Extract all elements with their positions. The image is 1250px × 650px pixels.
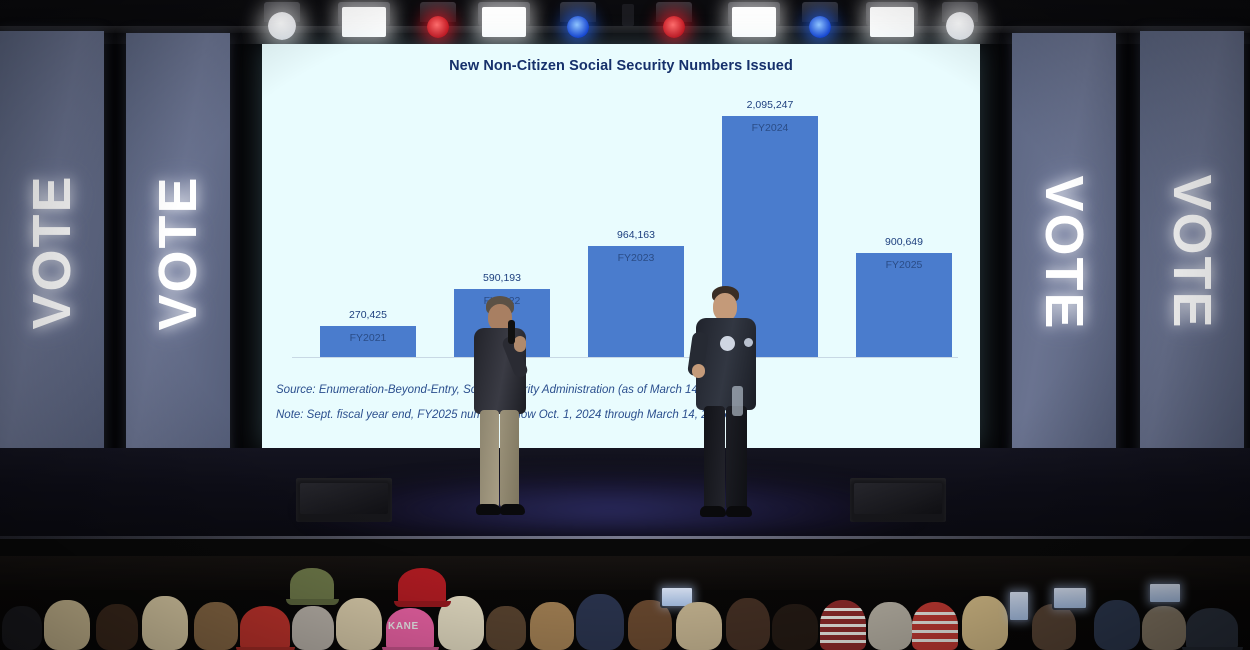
stage-monitor-right <box>850 478 946 522</box>
vote-banner-right-2: VOTE <box>1140 31 1244 472</box>
jacket-emblem <box>720 336 735 351</box>
jacket-shoulder-patch <box>744 338 753 347</box>
speaker-left-hand <box>514 336 526 352</box>
speaker-right-head <box>713 293 737 321</box>
audience-head <box>962 596 1008 650</box>
stage-light-spot-white <box>940 2 980 44</box>
audience-head <box>486 606 526 650</box>
audience-head <box>726 598 770 650</box>
slide-title: New Non-Citizen Social Security Numbers … <box>262 58 980 74</box>
category-label-fy2021: FY2021 <box>350 332 387 344</box>
vote-banner-left-2: VOTE <box>126 33 230 472</box>
stage-light-panel <box>478 2 530 42</box>
audience-head <box>194 602 238 650</box>
audience-backdrop <box>0 556 1250 590</box>
audience-head <box>336 598 382 650</box>
audience-cap-dark <box>1186 608 1238 650</box>
truss-hook <box>622 4 634 26</box>
audience-head <box>44 600 90 650</box>
audience: KANE <box>0 556 1250 650</box>
vote-banner-text: VOTE <box>151 175 205 330</box>
audience-head <box>96 604 138 650</box>
truss-beam <box>0 26 1250 33</box>
audience-head <box>576 594 624 650</box>
audience-head <box>1032 604 1076 650</box>
stage-light-spot-red <box>654 2 694 44</box>
stage-light-spot-red <box>418 2 458 44</box>
audience-head <box>868 602 912 650</box>
presentation-slide: New Non-Citizen Social Security Numbers … <box>262 44 980 448</box>
speaker-right-leg-b <box>726 406 747 510</box>
chart-baseline <box>292 357 958 358</box>
audience-head <box>292 606 334 650</box>
speaker-right-leg-a <box>704 406 725 510</box>
water-bottle[interactable] <box>732 386 743 416</box>
audience-striped-beanie <box>912 602 958 650</box>
rally-scene: VOTE VOTE VOTE VOTE New Non-Citizen Soci… <box>0 0 1250 650</box>
stage-light-panel <box>338 2 390 42</box>
speaker-left <box>456 296 552 532</box>
bar-value-fy2024: 2,095,247 <box>747 99 794 111</box>
audience-head <box>1094 600 1140 650</box>
audience-striped-beanie <box>820 600 866 650</box>
audience-cap-maga <box>398 568 446 604</box>
stage-monitor-left <box>296 478 392 522</box>
vote-banner-left-1: VOTE <box>0 31 104 472</box>
audience-cap-olive <box>290 568 334 602</box>
bar-group-fy2023: 964,163 FY2023 <box>588 246 684 357</box>
jersey-name-text: KANE <box>388 621 419 632</box>
speaker-left-shoe-b <box>500 504 525 515</box>
speaker-right-shoe-b <box>726 506 752 517</box>
speaker-left-shoe-a <box>476 504 501 515</box>
audience-phone[interactable] <box>1148 582 1182 604</box>
bar-value-fy2021: 270,425 <box>349 309 387 321</box>
audience-phone[interactable] <box>1008 590 1030 622</box>
slide-footnotes: Source: Enumeration-Beyond-Entry, Social… <box>276 384 970 434</box>
audience-head <box>530 602 574 650</box>
speaker-left-leg-a <box>480 410 499 508</box>
speaker-right-shoe-a <box>700 506 726 517</box>
stage-light-spot-blue <box>800 2 840 44</box>
bar-group-fy2021: 270,425 FY2021 <box>320 326 416 357</box>
slide-source-note: Source: Enumeration-Beyond-Entry, Social… <box>276 384 970 396</box>
stage-light-spot-white <box>262 2 302 44</box>
category-label-fy2025: FY2025 <box>886 259 923 271</box>
audience-cap-red <box>240 606 290 650</box>
vote-banner-text: VOTE <box>25 174 79 329</box>
vote-banner-text: VOTE <box>1037 175 1091 330</box>
bar-value-fy2023: 964,163 <box>617 229 655 241</box>
microphone[interactable] <box>508 320 515 344</box>
audience-head <box>1142 606 1186 650</box>
bar-value-fy2022: 590,193 <box>483 272 521 284</box>
bar-chart: 270,425 FY2021 590,193 FY2022 964,163 FY… <box>280 88 962 358</box>
slide-methodology-note: Note: Sept. fiscal year end, FY2025 numb… <box>276 409 970 421</box>
audience-head <box>676 602 722 650</box>
stage-light-panel <box>866 2 918 42</box>
speaker-right-hand <box>692 364 705 378</box>
bar-group-fy2025: 900,649 FY2025 <box>856 253 952 357</box>
vote-banner-text: VOTE <box>1165 174 1219 329</box>
audience-head <box>772 604 818 650</box>
audience-phone[interactable] <box>1052 586 1088 610</box>
category-label-fy2024: FY2024 <box>752 122 789 134</box>
bar-value-fy2025: 900,649 <box>885 236 923 248</box>
stage-light-spot-blue <box>558 2 598 44</box>
stage-light-panel <box>728 2 780 42</box>
category-label-fy2023: FY2023 <box>618 252 655 264</box>
speaker-right-jacket <box>696 318 756 410</box>
speaker-left-leg-b <box>500 410 519 508</box>
vote-banner-right-1: VOTE <box>1012 33 1116 472</box>
audience-head <box>142 596 188 650</box>
stage-light-wash <box>300 470 920 536</box>
speaker-right <box>686 286 778 532</box>
audience-head <box>2 606 42 650</box>
